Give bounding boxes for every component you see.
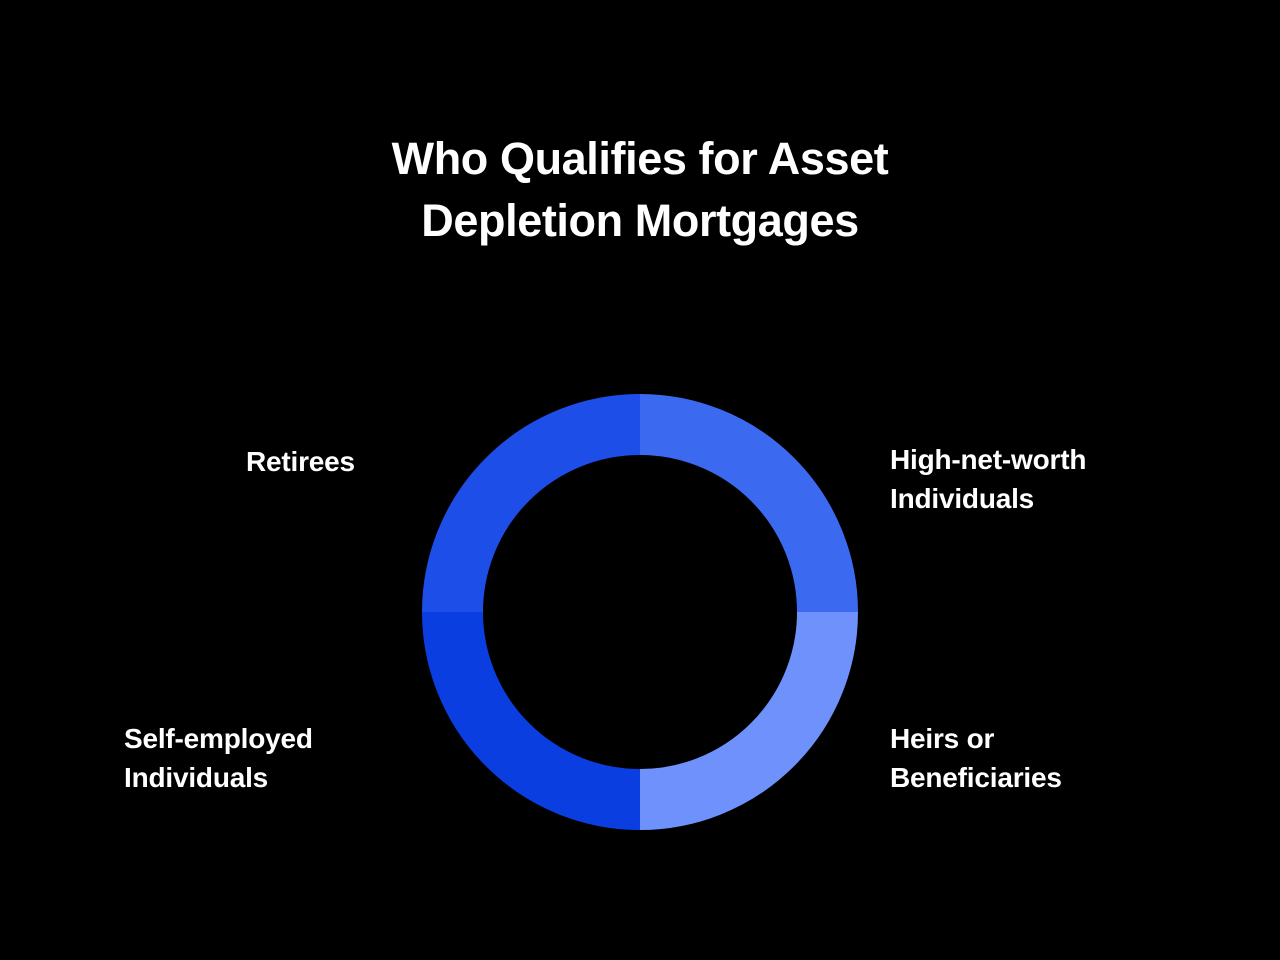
page-title-line-2: Depletion Mortgages	[240, 190, 1040, 252]
chart-label-heirs-or-beneficiaries: Heirs or Beneficiaries	[890, 719, 1170, 797]
donut-slice-high-net-worth-individuals[interactable]	[640, 425, 828, 613]
chart-label-hnw-line-1: High-net-worth	[890, 440, 1190, 479]
donut-slice-heirs-or-beneficiaries[interactable]	[640, 612, 828, 800]
chart-label-retirees: Retirees	[246, 442, 466, 481]
slide-canvas: Who Qualifies for Asset Depletion Mortga…	[0, 0, 1280, 960]
chart-label-retirees-line-1: Retirees	[246, 442, 466, 481]
chart-label-selfemp-line-2: Individuals	[124, 758, 424, 797]
chart-label-hnw-line-2: Individuals	[890, 479, 1190, 518]
page-title-line-1: Who Qualifies for Asset	[240, 128, 1040, 190]
chart-label-heirs-line-2: Beneficiaries	[890, 758, 1170, 797]
donut-chart-svg	[422, 394, 858, 830]
chart-label-heirs-line-1: Heirs or	[890, 719, 1170, 758]
donut-slice-retirees[interactable]	[453, 425, 641, 613]
donut-chart	[422, 394, 858, 830]
chart-label-high-net-worth-individuals: High-net-worth Individuals	[890, 440, 1190, 518]
chart-label-self-employed-individuals: Self-employed Individuals	[124, 719, 424, 797]
chart-label-selfemp-line-1: Self-employed	[124, 719, 424, 758]
donut-slice-self-employed-individuals[interactable]	[453, 612, 641, 800]
page-title: Who Qualifies for Asset Depletion Mortga…	[240, 128, 1040, 252]
